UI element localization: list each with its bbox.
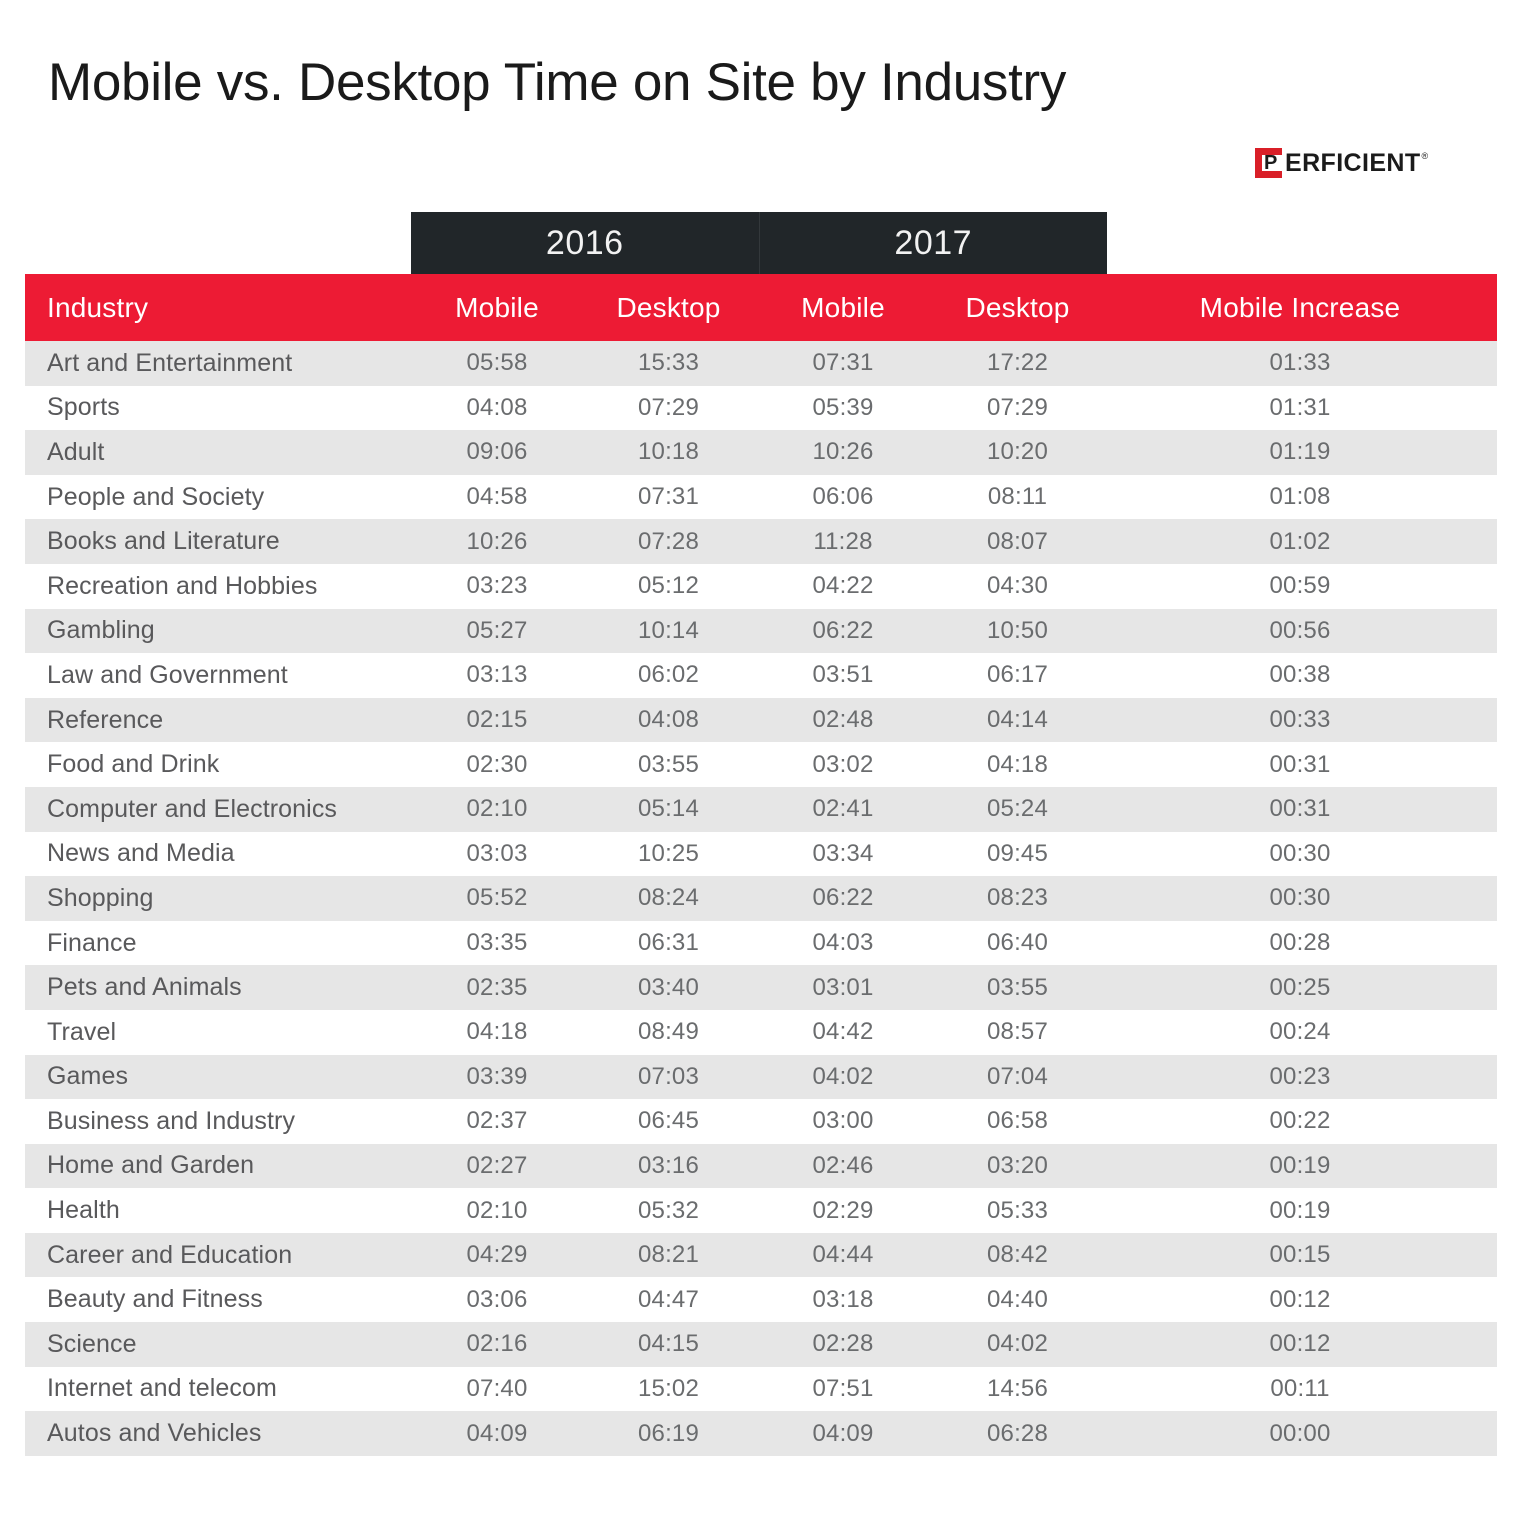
cell-mobile-2016: 04:58 bbox=[411, 483, 583, 511]
cell-industry: Autos and Vehicles bbox=[25, 1419, 411, 1448]
cell-mobile-increase: 01:08 bbox=[1103, 483, 1497, 511]
cell-mobile-2016: 03:13 bbox=[411, 661, 583, 689]
cell-desktop-2017: 08:42 bbox=[932, 1241, 1103, 1269]
cell-industry: Law and Government bbox=[25, 661, 411, 690]
perficient-logo: P ERFICIENT ® bbox=[1255, 148, 1428, 184]
cell-mobile-2017: 02:46 bbox=[754, 1152, 932, 1180]
cell-industry: Books and Literature bbox=[25, 527, 411, 556]
cell-desktop-2017: 04:30 bbox=[932, 572, 1103, 600]
cell-industry: News and Media bbox=[25, 839, 411, 868]
cell-industry: Sports bbox=[25, 393, 411, 422]
cell-mobile-increase: 00:12 bbox=[1103, 1330, 1497, 1358]
cell-desktop-2017: 08:23 bbox=[932, 884, 1103, 912]
cell-mobile-increase: 01:31 bbox=[1103, 394, 1497, 422]
cell-mobile-increase: 00:30 bbox=[1103, 840, 1497, 868]
cell-mobile-2017: 07:31 bbox=[754, 349, 932, 377]
cell-desktop-2017: 06:17 bbox=[932, 661, 1103, 689]
table-row: Food and Drink02:3003:5503:0204:1800:31 bbox=[25, 742, 1497, 787]
cell-mobile-increase: 00:30 bbox=[1103, 884, 1497, 912]
table-row: Finance03:3506:3104:0306:4000:28 bbox=[25, 921, 1497, 966]
cell-desktop-2017: 04:18 bbox=[932, 751, 1103, 779]
cell-mobile-increase: 00:22 bbox=[1103, 1107, 1497, 1135]
cell-mobile-2017: 02:28 bbox=[754, 1330, 932, 1358]
cell-mobile-increase: 00:15 bbox=[1103, 1241, 1497, 1269]
cell-desktop-2017: 06:28 bbox=[932, 1420, 1103, 1448]
logo-mark-letter: P bbox=[1264, 153, 1278, 173]
logo-wordmark: ERFICIENT bbox=[1285, 148, 1421, 178]
cell-industry: Business and Industry bbox=[25, 1107, 411, 1136]
cell-industry: Internet and telecom bbox=[25, 1374, 411, 1403]
cell-industry: Computer and Electronics bbox=[25, 795, 411, 824]
cell-desktop-2016: 08:21 bbox=[583, 1241, 754, 1269]
cell-desktop-2016: 03:16 bbox=[583, 1152, 754, 1180]
cell-desktop-2016: 04:08 bbox=[583, 706, 754, 734]
cell-industry: Food and Drink bbox=[25, 750, 411, 779]
cell-mobile-2017: 04:02 bbox=[754, 1063, 932, 1091]
cell-mobile-2016: 03:23 bbox=[411, 572, 583, 600]
table-header-row: Industry Mobile Desktop Mobile Desktop M… bbox=[25, 274, 1497, 341]
column-header-mobile-2016: Mobile bbox=[411, 292, 583, 324]
table-row: Beauty and Fitness03:0604:4703:1804:4000… bbox=[25, 1277, 1497, 1322]
cell-mobile-increase: 00:38 bbox=[1103, 661, 1497, 689]
cell-mobile-increase: 00:28 bbox=[1103, 929, 1497, 957]
table-row: Business and Industry02:3706:4503:0006:5… bbox=[25, 1099, 1497, 1144]
cell-mobile-2017: 06:22 bbox=[754, 617, 932, 645]
cell-mobile-2016: 02:15 bbox=[411, 706, 583, 734]
cell-mobile-2016: 04:29 bbox=[411, 1241, 583, 1269]
cell-mobile-increase: 00:25 bbox=[1103, 974, 1497, 1002]
cell-desktop-2017: 14:56 bbox=[932, 1375, 1103, 1403]
cell-mobile-2016: 03:39 bbox=[411, 1063, 583, 1091]
column-header-desktop-2016: Desktop bbox=[583, 292, 754, 324]
table-row: Gambling05:2710:1406:2210:5000:56 bbox=[25, 609, 1497, 654]
cell-industry: Reference bbox=[25, 706, 411, 735]
cell-desktop-2016: 15:02 bbox=[583, 1375, 754, 1403]
cell-desktop-2016: 08:49 bbox=[583, 1018, 754, 1046]
table-row: Health02:1005:3202:2905:3300:19 bbox=[25, 1188, 1497, 1233]
cell-mobile-increase: 00:12 bbox=[1103, 1286, 1497, 1314]
table-row: Science02:1604:1502:2804:0200:12 bbox=[25, 1322, 1497, 1367]
cell-industry: Health bbox=[25, 1196, 411, 1225]
column-header-desktop-2017: Desktop bbox=[932, 292, 1103, 324]
cell-mobile-2016: 02:35 bbox=[411, 974, 583, 1002]
table-body: Art and Entertainment05:5815:3307:3117:2… bbox=[25, 341, 1497, 1456]
cell-mobile-2017: 10:26 bbox=[754, 438, 932, 466]
cell-mobile-2016: 05:58 bbox=[411, 349, 583, 377]
cell-mobile-2016: 07:40 bbox=[411, 1375, 583, 1403]
cell-mobile-increase: 00:11 bbox=[1103, 1375, 1497, 1403]
cell-desktop-2017: 05:24 bbox=[932, 795, 1103, 823]
cell-desktop-2016: 10:25 bbox=[583, 840, 754, 868]
cell-desktop-2017: 03:55 bbox=[932, 974, 1103, 1002]
cell-desktop-2017: 07:29 bbox=[932, 394, 1103, 422]
cell-mobile-2017: 02:48 bbox=[754, 706, 932, 734]
cell-mobile-2016: 05:52 bbox=[411, 884, 583, 912]
cell-desktop-2017: 17:22 bbox=[932, 349, 1103, 377]
cell-mobile-2016: 04:09 bbox=[411, 1420, 583, 1448]
cell-mobile-increase: 00:19 bbox=[1103, 1152, 1497, 1180]
cell-desktop-2016: 08:24 bbox=[583, 884, 754, 912]
cell-desktop-2016: 07:28 bbox=[583, 528, 754, 556]
table-row: Art and Entertainment05:5815:3307:3117:2… bbox=[25, 341, 1497, 386]
cell-industry: Career and Education bbox=[25, 1241, 411, 1270]
cell-mobile-2016: 10:26 bbox=[411, 528, 583, 556]
cell-desktop-2017: 08:07 bbox=[932, 528, 1103, 556]
cell-desktop-2017: 10:20 bbox=[932, 438, 1103, 466]
infographic-page: Mobile vs. Desktop Time on Site by Indus… bbox=[0, 0, 1536, 1533]
cell-mobile-2017: 03:51 bbox=[754, 661, 932, 689]
cell-mobile-2016: 02:27 bbox=[411, 1152, 583, 1180]
cell-desktop-2017: 05:33 bbox=[932, 1197, 1103, 1225]
cell-mobile-2016: 02:37 bbox=[411, 1107, 583, 1135]
cell-mobile-2017: 06:22 bbox=[754, 884, 932, 912]
table-row: Books and Literature10:2607:2811:2808:07… bbox=[25, 519, 1497, 564]
table-row: Computer and Electronics02:1005:1402:410… bbox=[25, 787, 1497, 832]
cell-mobile-2016: 03:06 bbox=[411, 1286, 583, 1314]
table-row: Games03:3907:0304:0207:0400:23 bbox=[25, 1055, 1497, 1100]
cell-desktop-2016: 04:15 bbox=[583, 1330, 754, 1358]
cell-desktop-2017: 08:57 bbox=[932, 1018, 1103, 1046]
cell-mobile-2017: 06:06 bbox=[754, 483, 932, 511]
column-header-mobile-2017: Mobile bbox=[754, 292, 932, 324]
table-row: Law and Government03:1306:0203:5106:1700… bbox=[25, 653, 1497, 698]
cell-desktop-2016: 03:55 bbox=[583, 751, 754, 779]
cell-desktop-2016: 06:31 bbox=[583, 929, 754, 957]
table-row: Home and Garden02:2703:1602:4603:2000:19 bbox=[25, 1144, 1497, 1189]
cell-mobile-2017: 04:44 bbox=[754, 1241, 932, 1269]
cell-industry: Art and Entertainment bbox=[25, 349, 411, 378]
cell-desktop-2016: 05:32 bbox=[583, 1197, 754, 1225]
cell-desktop-2016: 05:12 bbox=[583, 572, 754, 600]
column-header-mobile-increase: Mobile Increase bbox=[1103, 292, 1497, 324]
logo-trademark: ® bbox=[1422, 150, 1429, 162]
cell-mobile-increase: 00:33 bbox=[1103, 706, 1497, 734]
cell-mobile-2017: 05:39 bbox=[754, 394, 932, 422]
cell-mobile-increase: 00:59 bbox=[1103, 572, 1497, 600]
cell-desktop-2017: 09:45 bbox=[932, 840, 1103, 868]
table-row: People and Society04:5807:3106:0608:1101… bbox=[25, 475, 1497, 520]
cell-mobile-2016: 04:18 bbox=[411, 1018, 583, 1046]
cell-mobile-increase: 00:19 bbox=[1103, 1197, 1497, 1225]
cell-industry: Home and Garden bbox=[25, 1151, 411, 1180]
cell-mobile-2016: 02:10 bbox=[411, 1197, 583, 1225]
table-row: Internet and telecom07:4015:0207:5114:56… bbox=[25, 1367, 1497, 1412]
cell-mobile-2017: 02:41 bbox=[754, 795, 932, 823]
cell-desktop-2017: 04:02 bbox=[932, 1330, 1103, 1358]
cell-mobile-increase: 00:00 bbox=[1103, 1420, 1497, 1448]
cell-mobile-2017: 04:03 bbox=[754, 929, 932, 957]
cell-mobile-2017: 02:29 bbox=[754, 1197, 932, 1225]
cell-mobile-increase: 01:19 bbox=[1103, 438, 1497, 466]
cell-mobile-2016: 05:27 bbox=[411, 617, 583, 645]
cell-industry: Gambling bbox=[25, 616, 411, 645]
cell-mobile-2017: 03:00 bbox=[754, 1107, 932, 1135]
cell-desktop-2017: 04:14 bbox=[932, 706, 1103, 734]
table-row: Pets and Animals02:3503:4003:0103:5500:2… bbox=[25, 965, 1497, 1010]
cell-mobile-2016: 04:08 bbox=[411, 394, 583, 422]
cell-desktop-2016: 07:29 bbox=[583, 394, 754, 422]
table-row: Recreation and Hobbies03:2305:1204:2204:… bbox=[25, 564, 1497, 609]
cell-desktop-2016: 06:19 bbox=[583, 1420, 754, 1448]
cell-industry: Games bbox=[25, 1062, 411, 1091]
cell-mobile-2016: 03:03 bbox=[411, 840, 583, 868]
cell-mobile-increase: 01:02 bbox=[1103, 528, 1497, 556]
table-row: Autos and Vehicles04:0906:1904:0906:2800… bbox=[25, 1411, 1497, 1456]
cell-desktop-2016: 03:40 bbox=[583, 974, 754, 1002]
cell-desktop-2017: 08:11 bbox=[932, 483, 1103, 511]
cell-industry: Travel bbox=[25, 1018, 411, 1047]
table-row: Reference02:1504:0802:4804:1400:33 bbox=[25, 698, 1497, 743]
cell-mobile-2017: 03:34 bbox=[754, 840, 932, 868]
cell-industry: People and Society bbox=[25, 483, 411, 512]
cell-industry: Beauty and Fitness bbox=[25, 1285, 411, 1314]
cell-desktop-2016: 06:45 bbox=[583, 1107, 754, 1135]
cell-mobile-2017: 11:28 bbox=[754, 528, 932, 556]
cell-mobile-increase: 01:33 bbox=[1103, 349, 1497, 377]
cell-industry: Science bbox=[25, 1330, 411, 1359]
cell-mobile-increase: 00:56 bbox=[1103, 617, 1497, 645]
cell-desktop-2016: 07:03 bbox=[583, 1063, 754, 1091]
cell-desktop-2017: 06:40 bbox=[932, 929, 1103, 957]
cell-mobile-2017: 04:09 bbox=[754, 1420, 932, 1448]
cell-industry: Finance bbox=[25, 929, 411, 958]
table-row: Adult09:0610:1810:2610:2001:19 bbox=[25, 430, 1497, 475]
cell-desktop-2016: 07:31 bbox=[583, 483, 754, 511]
cell-mobile-2017: 03:18 bbox=[754, 1286, 932, 1314]
cell-mobile-2017: 04:42 bbox=[754, 1018, 932, 1046]
cell-mobile-2016: 03:35 bbox=[411, 929, 583, 957]
cell-desktop-2016: 15:33 bbox=[583, 349, 754, 377]
cell-desktop-2016: 04:47 bbox=[583, 1286, 754, 1314]
year-group-header: 2016 2017 bbox=[411, 212, 1107, 274]
cell-desktop-2017: 03:20 bbox=[932, 1152, 1103, 1180]
cell-mobile-increase: 00:31 bbox=[1103, 751, 1497, 779]
cell-mobile-2017: 04:22 bbox=[754, 572, 932, 600]
cell-mobile-2016: 02:10 bbox=[411, 795, 583, 823]
cell-mobile-increase: 00:23 bbox=[1103, 1063, 1497, 1091]
data-table: Industry Mobile Desktop Mobile Desktop M… bbox=[25, 274, 1497, 1456]
perficient-p-mark-icon: P bbox=[1255, 148, 1282, 178]
cell-desktop-2016: 10:14 bbox=[583, 617, 754, 645]
cell-desktop-2017: 06:58 bbox=[932, 1107, 1103, 1135]
cell-desktop-2016: 10:18 bbox=[583, 438, 754, 466]
cell-industry: Pets and Animals bbox=[25, 973, 411, 1002]
year-group-2016: 2016 bbox=[411, 212, 759, 274]
cell-industry: Adult bbox=[25, 438, 411, 467]
cell-mobile-2017: 03:01 bbox=[754, 974, 932, 1002]
cell-desktop-2016: 06:02 bbox=[583, 661, 754, 689]
cell-desktop-2017: 07:04 bbox=[932, 1063, 1103, 1091]
page-title: Mobile vs. Desktop Time on Site by Indus… bbox=[48, 50, 1066, 116]
cell-desktop-2017: 10:50 bbox=[932, 617, 1103, 645]
table-row: News and Media03:0310:2503:3409:4500:30 bbox=[25, 832, 1497, 877]
table-row: Career and Education04:2908:2104:4408:42… bbox=[25, 1233, 1497, 1278]
cell-mobile-2017: 07:51 bbox=[754, 1375, 932, 1403]
cell-mobile-2016: 02:16 bbox=[411, 1330, 583, 1358]
year-group-2017: 2017 bbox=[759, 212, 1108, 274]
cell-mobile-2016: 02:30 bbox=[411, 751, 583, 779]
cell-mobile-increase: 00:24 bbox=[1103, 1018, 1497, 1046]
table-row: Sports04:0807:2905:3907:2901:31 bbox=[25, 386, 1497, 431]
cell-desktop-2017: 04:40 bbox=[932, 1286, 1103, 1314]
cell-industry: Shopping bbox=[25, 884, 411, 913]
column-header-industry: Industry bbox=[25, 292, 411, 324]
cell-desktop-2016: 05:14 bbox=[583, 795, 754, 823]
cell-mobile-2017: 03:02 bbox=[754, 751, 932, 779]
table-row: Travel04:1808:4904:4208:5700:24 bbox=[25, 1010, 1497, 1055]
cell-mobile-2016: 09:06 bbox=[411, 438, 583, 466]
cell-industry: Recreation and Hobbies bbox=[25, 572, 411, 601]
table-row: Shopping05:5208:2406:2208:2300:30 bbox=[25, 876, 1497, 921]
cell-mobile-increase: 00:31 bbox=[1103, 795, 1497, 823]
